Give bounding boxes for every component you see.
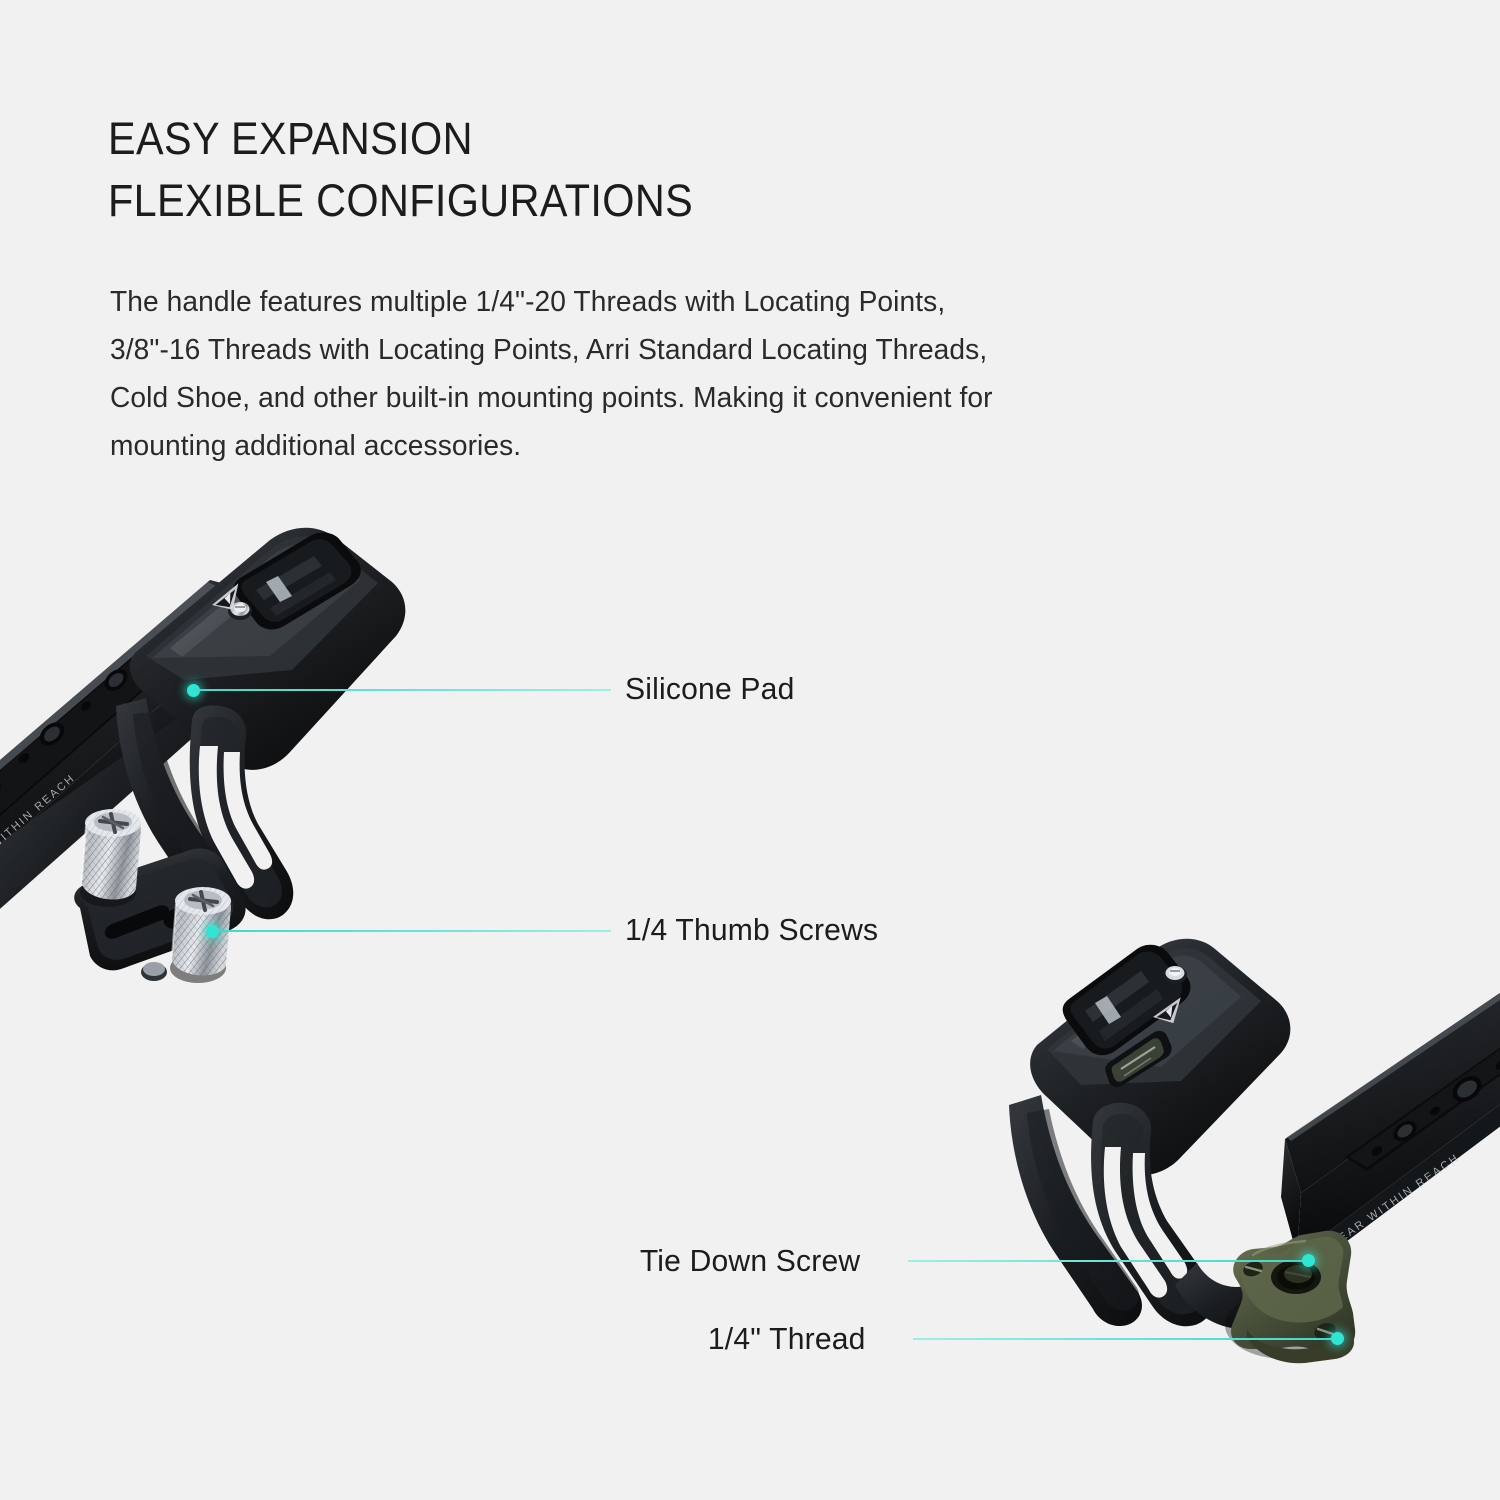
thumb-screw-1 — [80, 809, 141, 907]
handle-body — [1030, 939, 1290, 1175]
callout-dot-tie-down-screw — [1302, 1254, 1315, 1267]
callout-label-thumb-screws: 1/4 Thumb Screws — [625, 912, 878, 948]
description-line-2: 3/8"-16 Threads with Locating Points, Ar… — [110, 326, 1303, 374]
description-line-4: mounting additional accessories. — [110, 422, 1303, 470]
page-title: EASY EXPANSION FLEXIBLE CONFIGURATIONS — [108, 108, 1108, 232]
description-paragraph: The handle features multiple 1/4"-20 Thr… — [110, 278, 1340, 470]
callout-dot-quarter-thread — [1331, 1332, 1344, 1345]
thumb-screw-2 — [170, 887, 231, 983]
description-line-3: Cold Shoe, and other built-in mounting p… — [110, 374, 1303, 422]
product-image-handle-top-left: PRO GEAR WITHIN REACH — [0, 520, 500, 1040]
product-image-handle-bottom-right: PRO GEAR WITHIN REACH — [985, 925, 1500, 1405]
extension-rail: PRO GEAR WITHIN REACH — [1281, 965, 1500, 1277]
callout-line-tie-down-screw — [908, 1260, 1308, 1262]
callout-line-silicone-pad — [193, 689, 611, 691]
heading-line-2: FLEXIBLE CONFIGURATIONS — [108, 170, 1028, 232]
description-line-1: The handle features multiple 1/4"-20 Thr… — [110, 278, 1303, 326]
product-feature-page: EASY EXPANSION FLEXIBLE CONFIGURATIONS T… — [0, 0, 1500, 1500]
callout-line-quarter-thread — [913, 1338, 1337, 1340]
callout-label-quarter-thread: 1/4" Thread — [708, 1321, 866, 1357]
callout-line-thumb-screws — [212, 930, 611, 932]
callout-label-silicone-pad: Silicone Pad — [625, 671, 794, 707]
callout-label-tie-down-screw: Tie Down Screw — [640, 1243, 861, 1279]
heading-line-1: EASY EXPANSION — [108, 108, 1028, 170]
